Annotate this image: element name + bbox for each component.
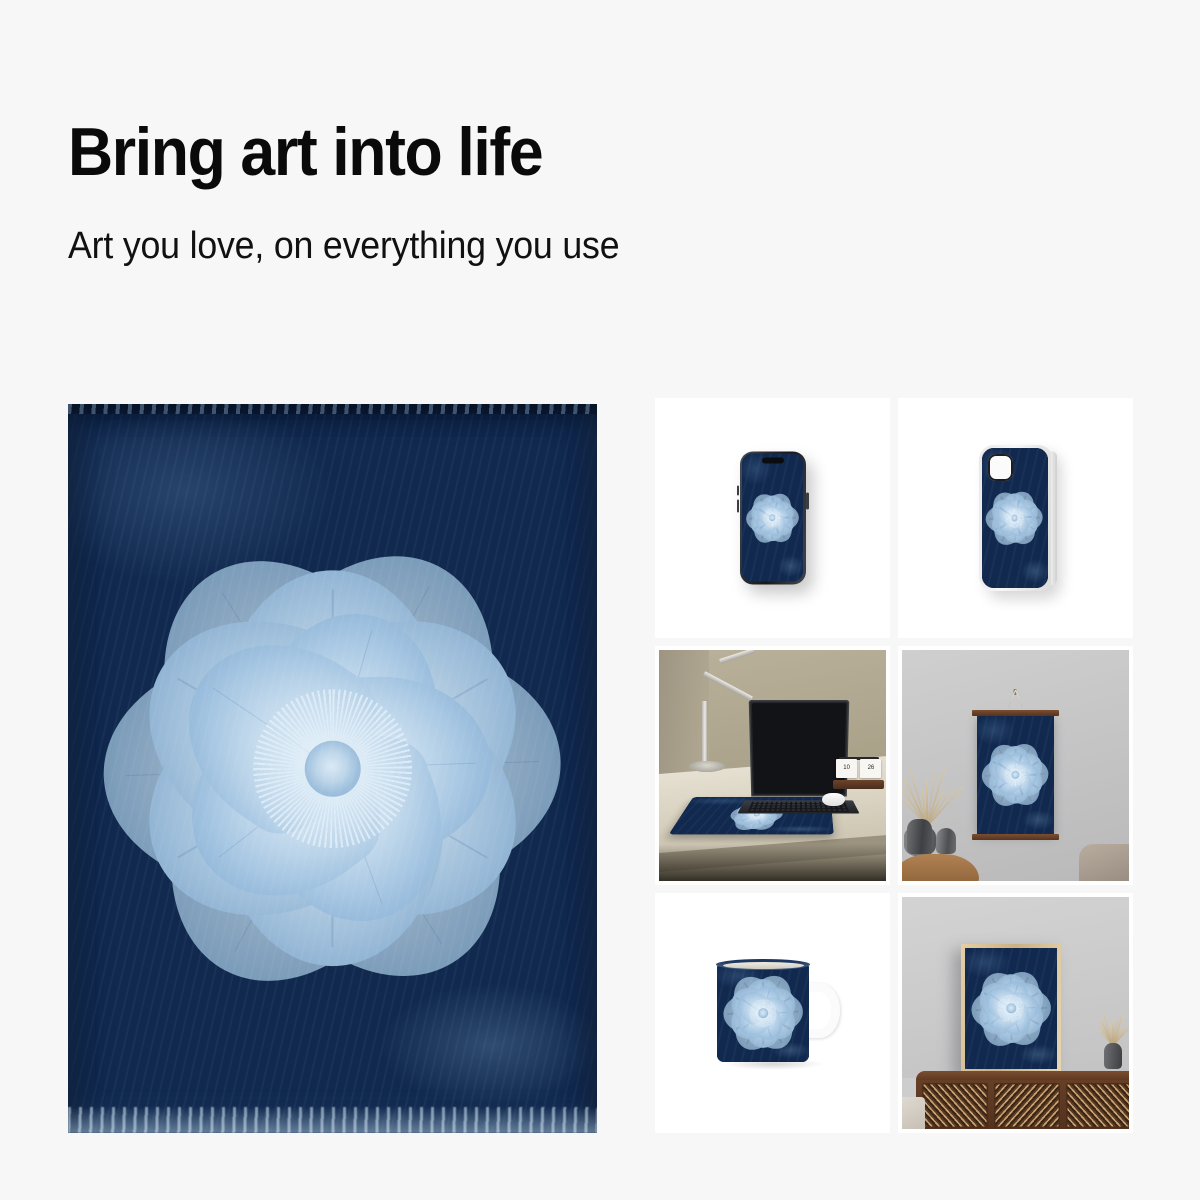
- dark-vase-tall: [907, 819, 932, 854]
- case-printed-back: [982, 448, 1048, 588]
- product-tile-phone-case[interactable]: [898, 398, 1133, 638]
- poster-print: [965, 948, 1057, 1070]
- calendar-base: [833, 780, 884, 789]
- armchair: [902, 1097, 925, 1129]
- cyanotype-background: [68, 404, 597, 1133]
- phone-screen: [742, 454, 803, 582]
- computer-mouse: [822, 793, 845, 806]
- sideboard-door[interactable]: [994, 1083, 1060, 1128]
- pampas-grass: [904, 766, 947, 826]
- dynamic-island: [762, 457, 784, 463]
- sideboard-top: [916, 1071, 1129, 1080]
- floor-shadow: [659, 844, 886, 881]
- flower-bloom: [68, 404, 597, 1133]
- phone-mockup: [740, 451, 806, 584]
- product-tile-phone-wallpaper[interactable]: [655, 398, 890, 638]
- product-tile-desk-mat[interactable]: 10 26: [655, 646, 890, 886]
- camera-cutout: [988, 454, 1013, 481]
- canvas-rail-bottom: [972, 834, 1060, 840]
- calendar-month: 10: [836, 759, 857, 779]
- sideboard-scene: [902, 897, 1129, 1129]
- product-tile-hanging-canvas[interactable]: [898, 646, 1133, 886]
- mug-shadow: [723, 1058, 824, 1070]
- desk-lamp-pole: [702, 701, 708, 766]
- hanging-canvas-product: [977, 710, 1054, 840]
- flower-bloom: [717, 964, 809, 1062]
- flower-center: [1006, 1004, 1016, 1014]
- flower-center: [758, 1008, 768, 1018]
- product-tile-mug[interactable]: [655, 893, 890, 1133]
- mug-body: [717, 964, 809, 1062]
- living-room-scene: [902, 650, 1129, 882]
- calendar-cards: 10 26: [836, 759, 881, 779]
- product-mockup-grid: 10 26: [655, 398, 1133, 1133]
- sideboard-door[interactable]: [922, 1083, 988, 1128]
- header: Bring art into life Art you love, on eve…: [68, 118, 968, 268]
- product-tile-framed-poster[interactable]: [898, 893, 1133, 1133]
- hero-artwork[interactable]: [68, 404, 597, 1133]
- promo-page: Bring art into life Art you love, on eve…: [0, 0, 1200, 1200]
- flower-bloom: [977, 716, 1054, 834]
- canvas-print: [977, 716, 1054, 834]
- sideboard: [916, 1071, 1129, 1129]
- mug-interior: [723, 962, 804, 969]
- sofa: [1079, 844, 1129, 881]
- flip-calendar: 10 26: [836, 759, 881, 789]
- page-subtitle: Art you love, on everything you use: [68, 226, 914, 268]
- case-side-edge: [1051, 451, 1057, 585]
- sideboard-door[interactable]: [1066, 1083, 1129, 1128]
- dark-vase: [1104, 1043, 1122, 1068]
- page-title: Bring art into life: [68, 118, 896, 186]
- phone-case-mockup: [979, 445, 1053, 591]
- flower-bloom: [965, 948, 1057, 1070]
- calendar-day: 26: [860, 759, 881, 779]
- phone-volume-up-button: [737, 486, 740, 495]
- phone-power-button: [806, 493, 809, 510]
- mug-mockup: [717, 964, 809, 1062]
- desk-scene: 10 26: [659, 650, 886, 882]
- phone-volume-down-button: [737, 499, 740, 512]
- sideboard-doors: [922, 1083, 1129, 1128]
- flower-bloom: [742, 454, 803, 582]
- flower-center: [305, 741, 361, 797]
- laptop-screen: [752, 703, 846, 794]
- dark-vase-small: [936, 828, 956, 853]
- framed-poster-product: [961, 944, 1061, 1074]
- flower-center: [1011, 514, 1018, 521]
- pampas-grass: [1100, 1013, 1125, 1045]
